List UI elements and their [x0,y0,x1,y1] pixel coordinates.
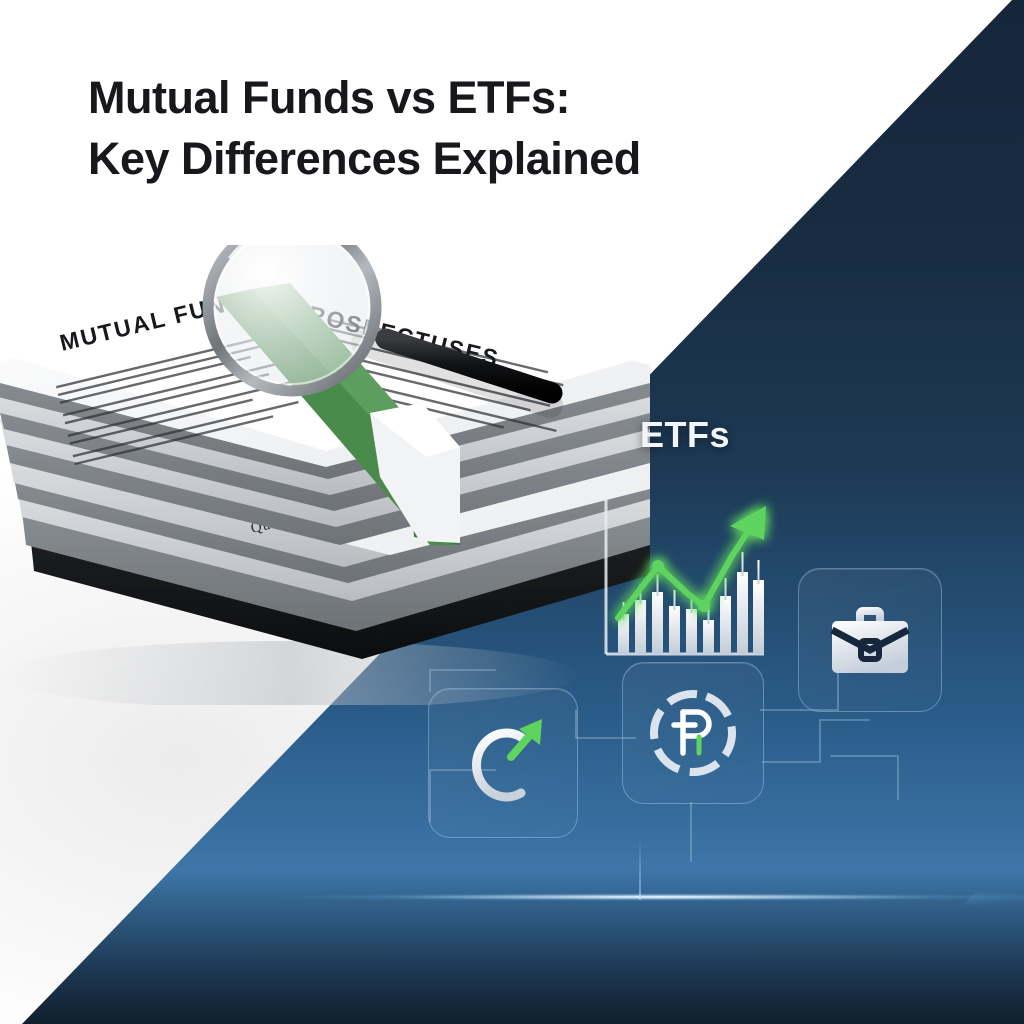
page-title: Mutual Funds vs ETFs: Key Differences Ex… [88,68,788,190]
portfolio-tile[interactable] [798,568,942,712]
briefcase-handle [856,607,884,621]
euro-up-arrow-icon [429,689,577,837]
growth-chart-icon [606,496,766,654]
coin-dashed-ring [643,683,743,783]
etfs-label: ETFs [640,414,730,456]
page-title-line-1: Mutual Funds vs ETFs: [88,68,788,129]
poster-canvas: Mutual Funds vs ETFs: Key Differences Ex… [0,0,1024,1024]
coin-tile[interactable] [622,662,764,804]
ruble-coin-icon [623,663,763,803]
page-title-line-2: Key Differences Explained [88,129,788,190]
euro-symbol [469,733,521,797]
ruble-symbol [674,712,709,753]
briefcase-icon [799,569,941,711]
chart-bars [618,552,764,654]
euro-currency-tile[interactable] [428,688,578,838]
